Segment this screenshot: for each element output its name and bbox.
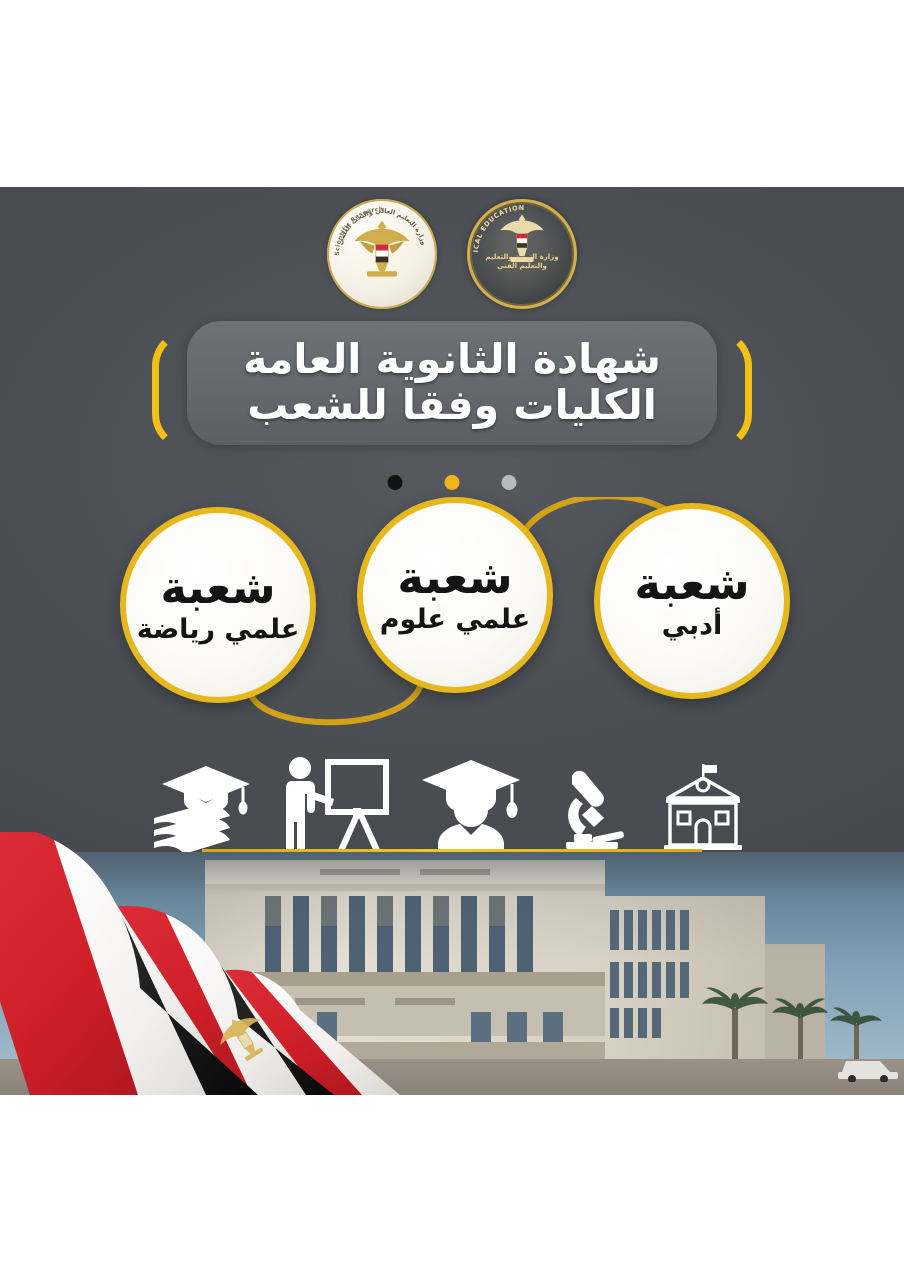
dot-indicator-3	[388, 475, 403, 490]
seal-light: Ministry of Higher Education and Scienti…	[327, 199, 437, 309]
ministry-of-education-logo: MINISTRY OF EDUCATION AND TECHNICAL EDUC…	[467, 199, 577, 309]
bottom-white-margin	[0, 1095, 904, 1280]
ministry-of-higher-education-logo: Ministry of Higher Education and Scienti…	[327, 199, 437, 309]
title-line-2: الكليات وفقا للشعب	[247, 383, 657, 429]
poster-title: شهادة الثانوية العامة الكليات وفقا للشعب	[152, 321, 752, 445]
microscope-icon	[552, 758, 630, 858]
ministry-logos: MINISTRY OF EDUCATION AND TECHNICAL EDUC…	[0, 199, 904, 309]
title-panel: شهادة الثانوية العامة الكليات وفقا للشعب	[187, 321, 717, 445]
graduate-student-icon	[416, 754, 526, 858]
dot-indicators	[388, 475, 517, 490]
top-white-margin	[0, 0, 904, 187]
egyptian-eagle-icon	[351, 219, 413, 281]
poster: MINISTRY OF EDUCATION AND TECHNICAL EDUC…	[0, 187, 904, 1095]
branch-circles: شعبة علمي رياضة شعبة علمي علوم شعبة أدبي	[0, 497, 904, 727]
branch-circle-math-science[interactable]: شعبة علمي رياضة	[120, 507, 316, 703]
seal-dark: MINISTRY OF EDUCATION AND TECHNICAL EDUC…	[467, 199, 577, 309]
branch-label-sub: علمي علوم	[380, 604, 530, 635]
branch-circle-literary[interactable]: شعبة أدبي	[594, 503, 790, 699]
branch-label-sub: علمي رياضة	[137, 614, 300, 645]
title-line-1: شهادة الثانوية العامة	[243, 337, 661, 383]
seal-arabic-line1: وزارة التربية والتعليم	[483, 253, 561, 262]
seal-arabic-line2: والتعليم الفني	[483, 262, 561, 271]
seal-arabic-text-education: وزارة التربية والتعليم والتعليم الفني	[483, 253, 561, 272]
university-building-icon	[656, 758, 756, 858]
dot-indicator-1	[502, 475, 517, 490]
egyptian-flags	[0, 832, 420, 1095]
dot-indicator-2	[445, 475, 460, 490]
branch-circle-general-science[interactable]: شعبة علمي علوم	[357, 497, 553, 693]
branch-label-top: شعبة	[634, 561, 749, 606]
branch-label-top: شعبة	[397, 555, 512, 600]
branch-label-top: شعبة	[160, 565, 275, 610]
branch-label-sub: أدبي	[662, 610, 723, 641]
